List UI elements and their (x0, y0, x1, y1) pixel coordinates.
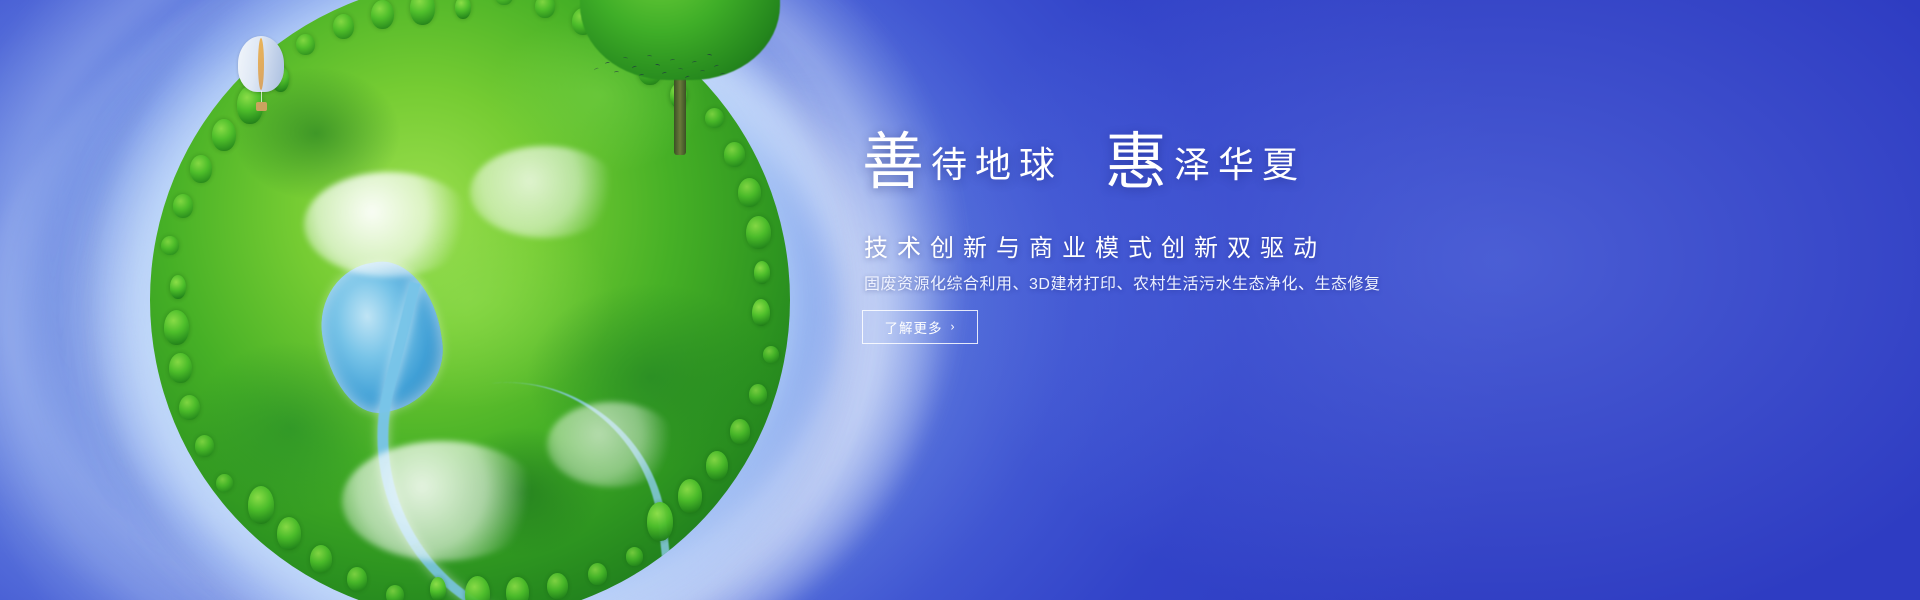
balloon-basket (256, 102, 267, 111)
tree-icon (371, 0, 394, 29)
page-description: 固废资源化综合利用、3D建材打印、农村生活污水生态净化、生态修复 (864, 270, 1380, 294)
bird-icon (685, 75, 691, 80)
tree-icon (746, 216, 771, 250)
tree-icon (296, 34, 315, 55)
hero-banner: 善待地球惠泽华夏 技术创新与商业模式创新双驱动 固废资源化综合利用、3D建材打印… (0, 0, 1920, 600)
tree-icon (738, 178, 761, 207)
tree-icon (430, 577, 446, 600)
tree-icon (455, 0, 471, 19)
page-subtitle: 技术创新与商业模式创新双驱动 (864, 228, 1326, 263)
page-title: 善待地球惠泽华夏 (862, 132, 1306, 194)
tree-icon (333, 14, 354, 39)
bird-icon (632, 65, 638, 70)
tree-icon (179, 395, 200, 421)
headline-segment2-small: 泽华夏 (1168, 145, 1306, 185)
tree-icon (706, 451, 728, 480)
cloud-icon (342, 441, 542, 561)
headline-segment1-small: 待地球 (925, 145, 1063, 185)
tree-icon (506, 577, 529, 600)
headline-segment1-large: 善 (862, 129, 925, 197)
tree-icon (347, 567, 367, 591)
bird-icon (647, 55, 652, 58)
bird-icon (623, 57, 628, 61)
tree-icon (195, 435, 214, 457)
tree-icon (310, 545, 332, 573)
tree-icon (212, 119, 236, 151)
learn-more-button[interactable]: 了解更多 › (862, 310, 978, 344)
bird-flock-icon (592, 46, 722, 92)
banner-content: 善待地球惠泽华夏 技术创新与商业模式创新双驱动 固废资源化综合利用、3D建材打印… (862, 0, 1562, 600)
learn-more-label: 了解更多 (885, 317, 943, 337)
cloud-icon (470, 146, 620, 238)
tree-icon (535, 0, 555, 18)
tree-icon (164, 310, 189, 345)
tree-icon (161, 236, 179, 255)
tree-icon (678, 479, 702, 513)
tree-icon (588, 563, 607, 585)
tree-icon (173, 194, 193, 217)
tree-icon (169, 353, 192, 383)
bird-icon (678, 68, 683, 72)
bird-icon (655, 63, 661, 67)
bird-icon (670, 59, 675, 62)
tree-icon (752, 299, 770, 326)
bird-icon (639, 74, 644, 78)
cloud-icon (304, 172, 474, 277)
bird-icon (594, 67, 600, 72)
bird-icon (605, 61, 611, 65)
tree-icon (730, 419, 750, 444)
headline-segment2-large: 惠 (1105, 129, 1168, 197)
tree-icon (216, 474, 233, 492)
tree-icon (724, 142, 745, 167)
tree-icon (248, 486, 274, 524)
tree-icon (647, 502, 673, 541)
cloud-icon (547, 402, 677, 487)
tree-icon (277, 517, 301, 550)
tree-icon (190, 155, 212, 183)
balloon-stripe (258, 38, 264, 90)
chevron-right-icon: › (951, 321, 956, 333)
bird-icon (692, 61, 698, 65)
bird-icon (707, 54, 712, 58)
bird-icon (662, 71, 668, 75)
bird-icon (700, 70, 705, 73)
bird-icon (614, 71, 619, 74)
tree-icon (626, 547, 643, 565)
hot-air-balloon-icon (238, 36, 284, 118)
tree-icon (749, 384, 767, 404)
tree-icon (763, 346, 779, 363)
bird-icon (714, 64, 720, 68)
